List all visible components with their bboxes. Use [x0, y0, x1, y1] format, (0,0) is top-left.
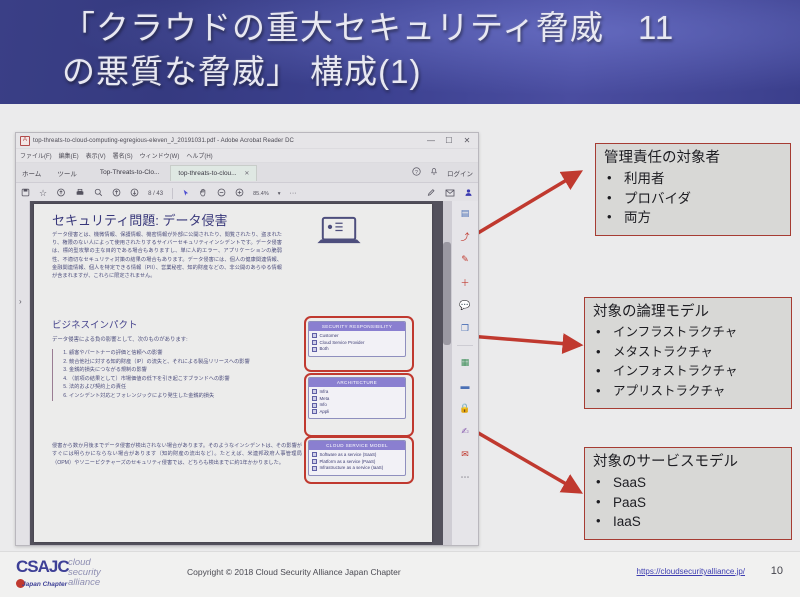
pdf-closing-paragraph: 侵害から数か月後までデータ侵害が検出されない場合があります。そのようなインシデン… — [52, 442, 302, 467]
export-pdf-icon[interactable]: ⤴ — [458, 230, 473, 243]
note-item: アプリストラクチャ — [593, 382, 783, 402]
list-item: 法的および契約上の責任 — [69, 383, 306, 392]
slide-title-line2: の悪質な脅威」 構成(1) — [62, 50, 792, 94]
page-current-input[interactable]: 8 — [148, 191, 151, 197]
pdf-viewport[interactable]: › セキュリティ問題: データ侵害 データ侵害とは、機微情報、保護情報、機密情報… — [16, 201, 478, 545]
menu-item-sign[interactable]: 署名(S) — [113, 151, 133, 160]
minimize-button[interactable]: — — [424, 135, 438, 146]
share-icon[interactable] — [426, 188, 436, 199]
page-indicator[interactable]: 8 / 43 — [148, 191, 163, 197]
note-item: インフォストラクチャ — [593, 362, 783, 382]
print-icon[interactable] — [75, 188, 85, 199]
zoom-dropdown-caret-icon[interactable]: ▾ — [278, 191, 281, 197]
menu-item-edit[interactable]: 編集(E) — [59, 151, 79, 160]
protect-icon[interactable]: 🔒 — [458, 402, 473, 415]
save-icon[interactable] — [21, 188, 30, 199]
tab-document-2-label: top-threats-to-clou... — [178, 170, 236, 177]
slide-title: 「クラウドの重大セキュリティ脅威 11 の悪質な脅威」 構成(1) — [62, 6, 792, 94]
toolbar-right-group — [426, 188, 473, 199]
tabbar-right-group: ? ログイン — [412, 167, 473, 178]
note-item: IaaS — [593, 512, 783, 532]
slide-title-line1: 「クラウドの重大セキュリティ脅威 11 — [62, 9, 674, 46]
csa-logo-jc: JC — [49, 557, 69, 576]
pages-icon[interactable]: ▤ — [458, 207, 473, 220]
zoom-in-icon[interactable] — [235, 188, 244, 199]
login-button[interactable]: ログイン — [447, 168, 473, 178]
acrobat-reader-window[interactable]: A top-threats-to-cloud-computing-egregio… — [15, 132, 479, 546]
pdf-heading: セキュリティ問題: データ侵害 — [52, 210, 227, 229]
edit-pdf-icon[interactable]: ✎ — [458, 253, 473, 266]
toolbar-divider — [172, 188, 173, 199]
slide-title-band: 「クラウドの重大セキュリティ脅威 11 の悪質な脅威」 構成(1) — [0, 0, 800, 104]
tab-document-2[interactable]: top-threats-to-clou... ✕ — [170, 165, 257, 181]
acrobat-logo-icon: A — [20, 136, 30, 146]
highlight-ring-security-responsibility — [304, 316, 414, 372]
menu-item-help[interactable]: ヘルプ(H) — [186, 151, 212, 160]
left-navigation-rail[interactable]: › — [16, 201, 30, 545]
csa-word-alliance: alliance — [68, 578, 101, 588]
mail-icon[interactable] — [445, 189, 455, 199]
comment-icon[interactable]: 💬 — [458, 299, 473, 312]
zoom-level-value[interactable]: 85.4% — [253, 191, 269, 197]
fill-and-sign-icon[interactable]: ✍ — [458, 425, 473, 438]
csa-logo: CSAJC cloud security alliance Japan Chap… — [16, 558, 128, 592]
help-icon[interactable]: ? — [412, 167, 421, 178]
window-titlebar[interactable]: A top-threats-to-cloud-computing-egregio… — [16, 133, 478, 149]
create-pdf-icon[interactable]: ＋ — [458, 276, 473, 289]
note-item: プロバイダ — [604, 189, 782, 209]
more-tools-icon[interactable]: ⋯ — [458, 471, 473, 484]
tab-document-1[interactable]: Top-Threats-to-Clo... — [93, 165, 167, 180]
csa-logo-words: cloud security alliance — [68, 558, 101, 588]
note-item: PaaS — [593, 493, 783, 513]
tab-home[interactable]: ホーム — [22, 168, 41, 178]
note-item: メタストラクチャ — [593, 343, 783, 363]
highlight-ring-architecture — [304, 373, 414, 437]
select-tool-icon[interactable] — [182, 188, 190, 200]
redact-icon[interactable]: ▬ — [458, 379, 473, 392]
zoom-out-icon[interactable] — [217, 188, 226, 199]
note-item: インフラストラクチャ — [593, 323, 783, 343]
note-title: 管理責任の対象者 — [604, 149, 782, 168]
annotation-note-responsibility: 管理責任の対象者 利用者 プロバイダ 両方 — [595, 143, 791, 236]
csa-logo-chapter: Japan Chapter — [22, 581, 67, 588]
note-list: 利用者 プロバイダ 両方 — [604, 169, 782, 228]
account-person-icon[interactable] — [464, 188, 473, 199]
tab-close-icon[interactable]: ✕ — [244, 171, 249, 177]
note-list: SaaS PaaS IaaS — [593, 473, 783, 532]
search-icon[interactable] — [94, 188, 103, 199]
menu-item-file[interactable]: ファイル(F) — [20, 151, 52, 160]
tools-rail[interactable]: ▤ ⤴ ✎ ＋ 💬 ❐ ▦ ▬ 🔒 ✍ ✉ ⋯ — [451, 201, 478, 546]
menu-item-window[interactable]: ウィンドウ(W) — [140, 151, 180, 160]
svg-text:?: ? — [415, 170, 418, 176]
highlight-ring-cloud-service-model — [304, 436, 414, 484]
notification-bell-icon[interactable] — [430, 167, 438, 178]
note-title: 対象のサービスモデル — [593, 453, 783, 472]
footer-page-number: 10 — [771, 565, 783, 577]
note-item: 利用者 — [604, 169, 782, 189]
close-button[interactable]: ✕ — [460, 135, 474, 146]
pdf-vertical-scrollbar[interactable] — [443, 201, 451, 545]
laptop-illustration-icon — [312, 214, 366, 256]
organize-pages-icon[interactable]: ▦ — [458, 356, 473, 369]
combine-files-icon[interactable]: ❐ — [458, 322, 473, 335]
footer-copyright: Copyright © 2018 Cloud Security Alliance… — [187, 567, 401, 577]
list-item: インシデント対応とフォレンジックにより発生した金銭的損失 — [69, 392, 306, 401]
pdf-lead-text: データ侵害による負の影響として、次のものがあります: — [52, 335, 188, 343]
page-total-label: / 43 — [153, 191, 163, 197]
previous-page-icon[interactable] — [112, 188, 121, 199]
maximize-button[interactable]: ☐ — [442, 135, 456, 146]
menu-item-view[interactable]: 表示(V) — [86, 151, 106, 160]
note-item: SaaS — [593, 473, 783, 493]
more-options-icon[interactable]: ··· — [289, 190, 296, 197]
csa-logo-csa: CSA — [16, 557, 49, 576]
pdf-subheading: ビジネスインパクト — [52, 317, 138, 331]
upload-cloud-icon[interactable] — [56, 188, 66, 199]
list-item: 競合他社に対する知的財産（IP）の流失と、それによる製品リリースへの影響 — [69, 358, 306, 367]
annotation-note-logical-model: 対象の論理モデル インフラストラクチャ メタストラクチャ インフォストラクチャ … — [584, 297, 792, 409]
rail-divider — [457, 345, 473, 346]
tab-tools[interactable]: ツール — [57, 168, 77, 178]
list-item: 金銭的損失につながる規制の影響 — [69, 366, 306, 375]
note-list: インフラストラクチャ メタストラクチャ インフォストラクチャ アプリストラクチャ — [593, 323, 783, 401]
pdf-page: セキュリティ問題: データ侵害 データ侵害とは、機微情報、保護情報、機密情報が外… — [34, 204, 432, 542]
next-page-icon[interactable] — [130, 188, 139, 199]
list-item: （前項の結果として）市場価値の低下を引き起こすブランドへの影響 — [69, 375, 306, 384]
scrollbar-thumb[interactable] — [443, 242, 451, 345]
pdf-paragraph: データ侵害とは、機微情報、保護情報、機密情報が外部に公開されたり、閲覧されたり、… — [52, 231, 282, 280]
panel-expand-icon[interactable]: › — [19, 297, 22, 306]
slide-footer: CSAJC cloud security alliance Japan Chap… — [0, 551, 800, 597]
list-item: 顧客やパートナーの評価と信頼への影響 — [69, 349, 306, 358]
hand-tool-icon[interactable] — [199, 188, 208, 200]
pdf-impact-list: 顧客やパートナーの評価と信頼への影響 競合他社に対する知的財産（IP）の流失と、… — [52, 349, 306, 401]
annotation-note-service-model: 対象のサービスモデル SaaS PaaS IaaS — [584, 447, 792, 540]
window-title: top-threats-to-cloud-computing-egregious… — [33, 138, 294, 144]
star-icon[interactable]: ☆ — [39, 189, 47, 198]
note-item: 両方 — [604, 208, 782, 228]
send-for-signature-icon[interactable]: ✉ — [458, 448, 473, 461]
tab-bar[interactable]: ホーム ツール Top-Threats-to-Clo... top-threat… — [16, 163, 478, 183]
note-title: 対象の論理モデル — [593, 303, 783, 322]
footer-link[interactable]: https://cloudsecurityalliance.jp/ — [637, 567, 746, 576]
menu-bar[interactable]: ファイル(F) 編集(E) 表示(V) 署名(S) ウィンドウ(W) ヘルプ(H… — [16, 149, 478, 163]
presentation-slide: 「クラウドの重大セキュリティ脅威 11 の悪質な脅威」 構成(1) A top-… — [0, 0, 800, 597]
